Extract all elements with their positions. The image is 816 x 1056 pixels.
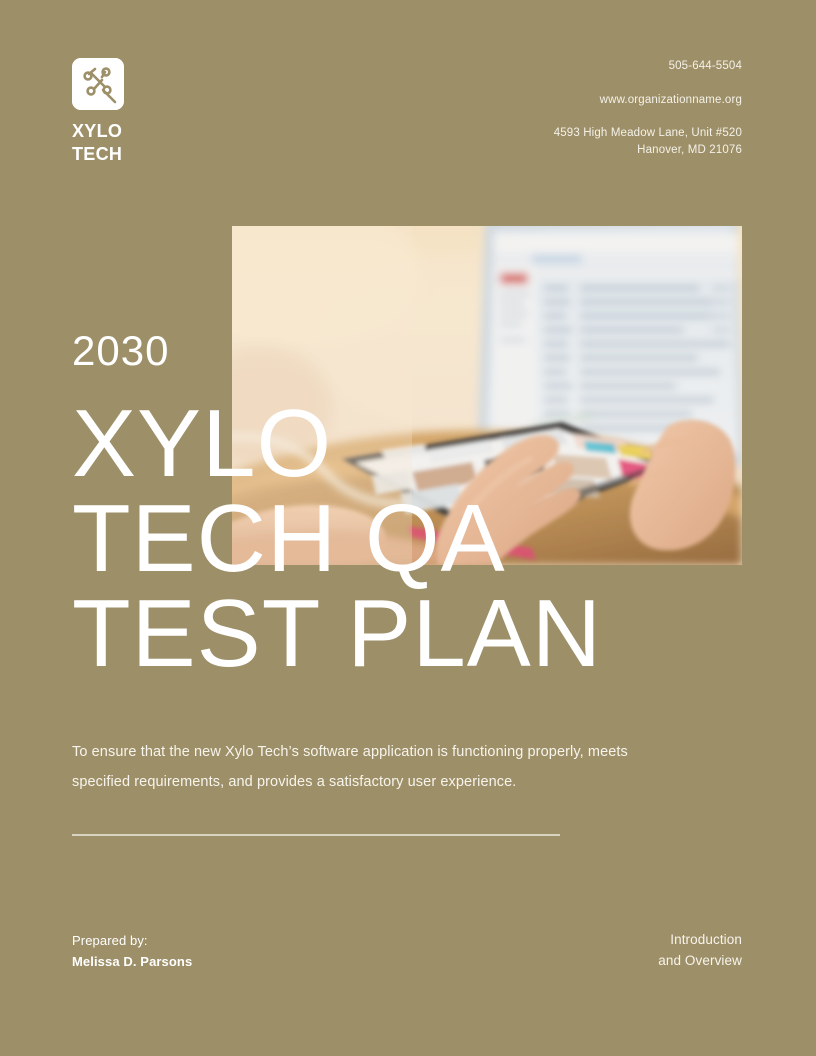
- prepared-by-label: Prepared by:: [72, 930, 192, 951]
- section-label-line-1: Introduction: [658, 929, 742, 950]
- hero-block: 2030 XYLO TECH QA TEST PLAN: [72, 330, 772, 681]
- contact-phone: 505-644-5504: [554, 60, 742, 73]
- page-title: XYLO TECH QA TEST PLAN: [72, 396, 772, 681]
- contact-address-line-2: Hanover, MD 21076: [554, 144, 742, 157]
- prepared-by-block: Prepared by: Melissa D. Parsons: [72, 930, 192, 972]
- section-label-block: Introduction and Overview: [658, 929, 742, 972]
- contact-info: 505-644-5504 www.organizationname.org 45…: [554, 60, 742, 157]
- contact-website[interactable]: www.organizationname.org: [554, 94, 742, 107]
- cover-page: XYLO TECH 505-644-5504 www.organizationn…: [0, 0, 816, 1056]
- prepared-by-name: Melissa D. Parsons: [72, 951, 192, 972]
- brand-block: XYLO TECH: [72, 58, 252, 166]
- brand-wordmark-line-1: XYLO: [72, 120, 252, 143]
- section-label-line-2: and Overview: [658, 950, 742, 971]
- brand-wordmark: XYLO TECH: [72, 120, 252, 166]
- circuit-node-logo-icon: [72, 58, 124, 110]
- contact-address: 4593 High Meadow Lane, Unit #520 Hanover…: [554, 127, 742, 156]
- cover-subtitle: To ensure that the new Xylo Tech’s softw…: [72, 738, 652, 797]
- brand-wordmark-line-2: TECH: [72, 143, 252, 166]
- contact-address-line-1: 4593 High Meadow Lane, Unit #520: [554, 127, 742, 140]
- divider: [72, 834, 560, 836]
- hero-year: 2030: [72, 330, 772, 372]
